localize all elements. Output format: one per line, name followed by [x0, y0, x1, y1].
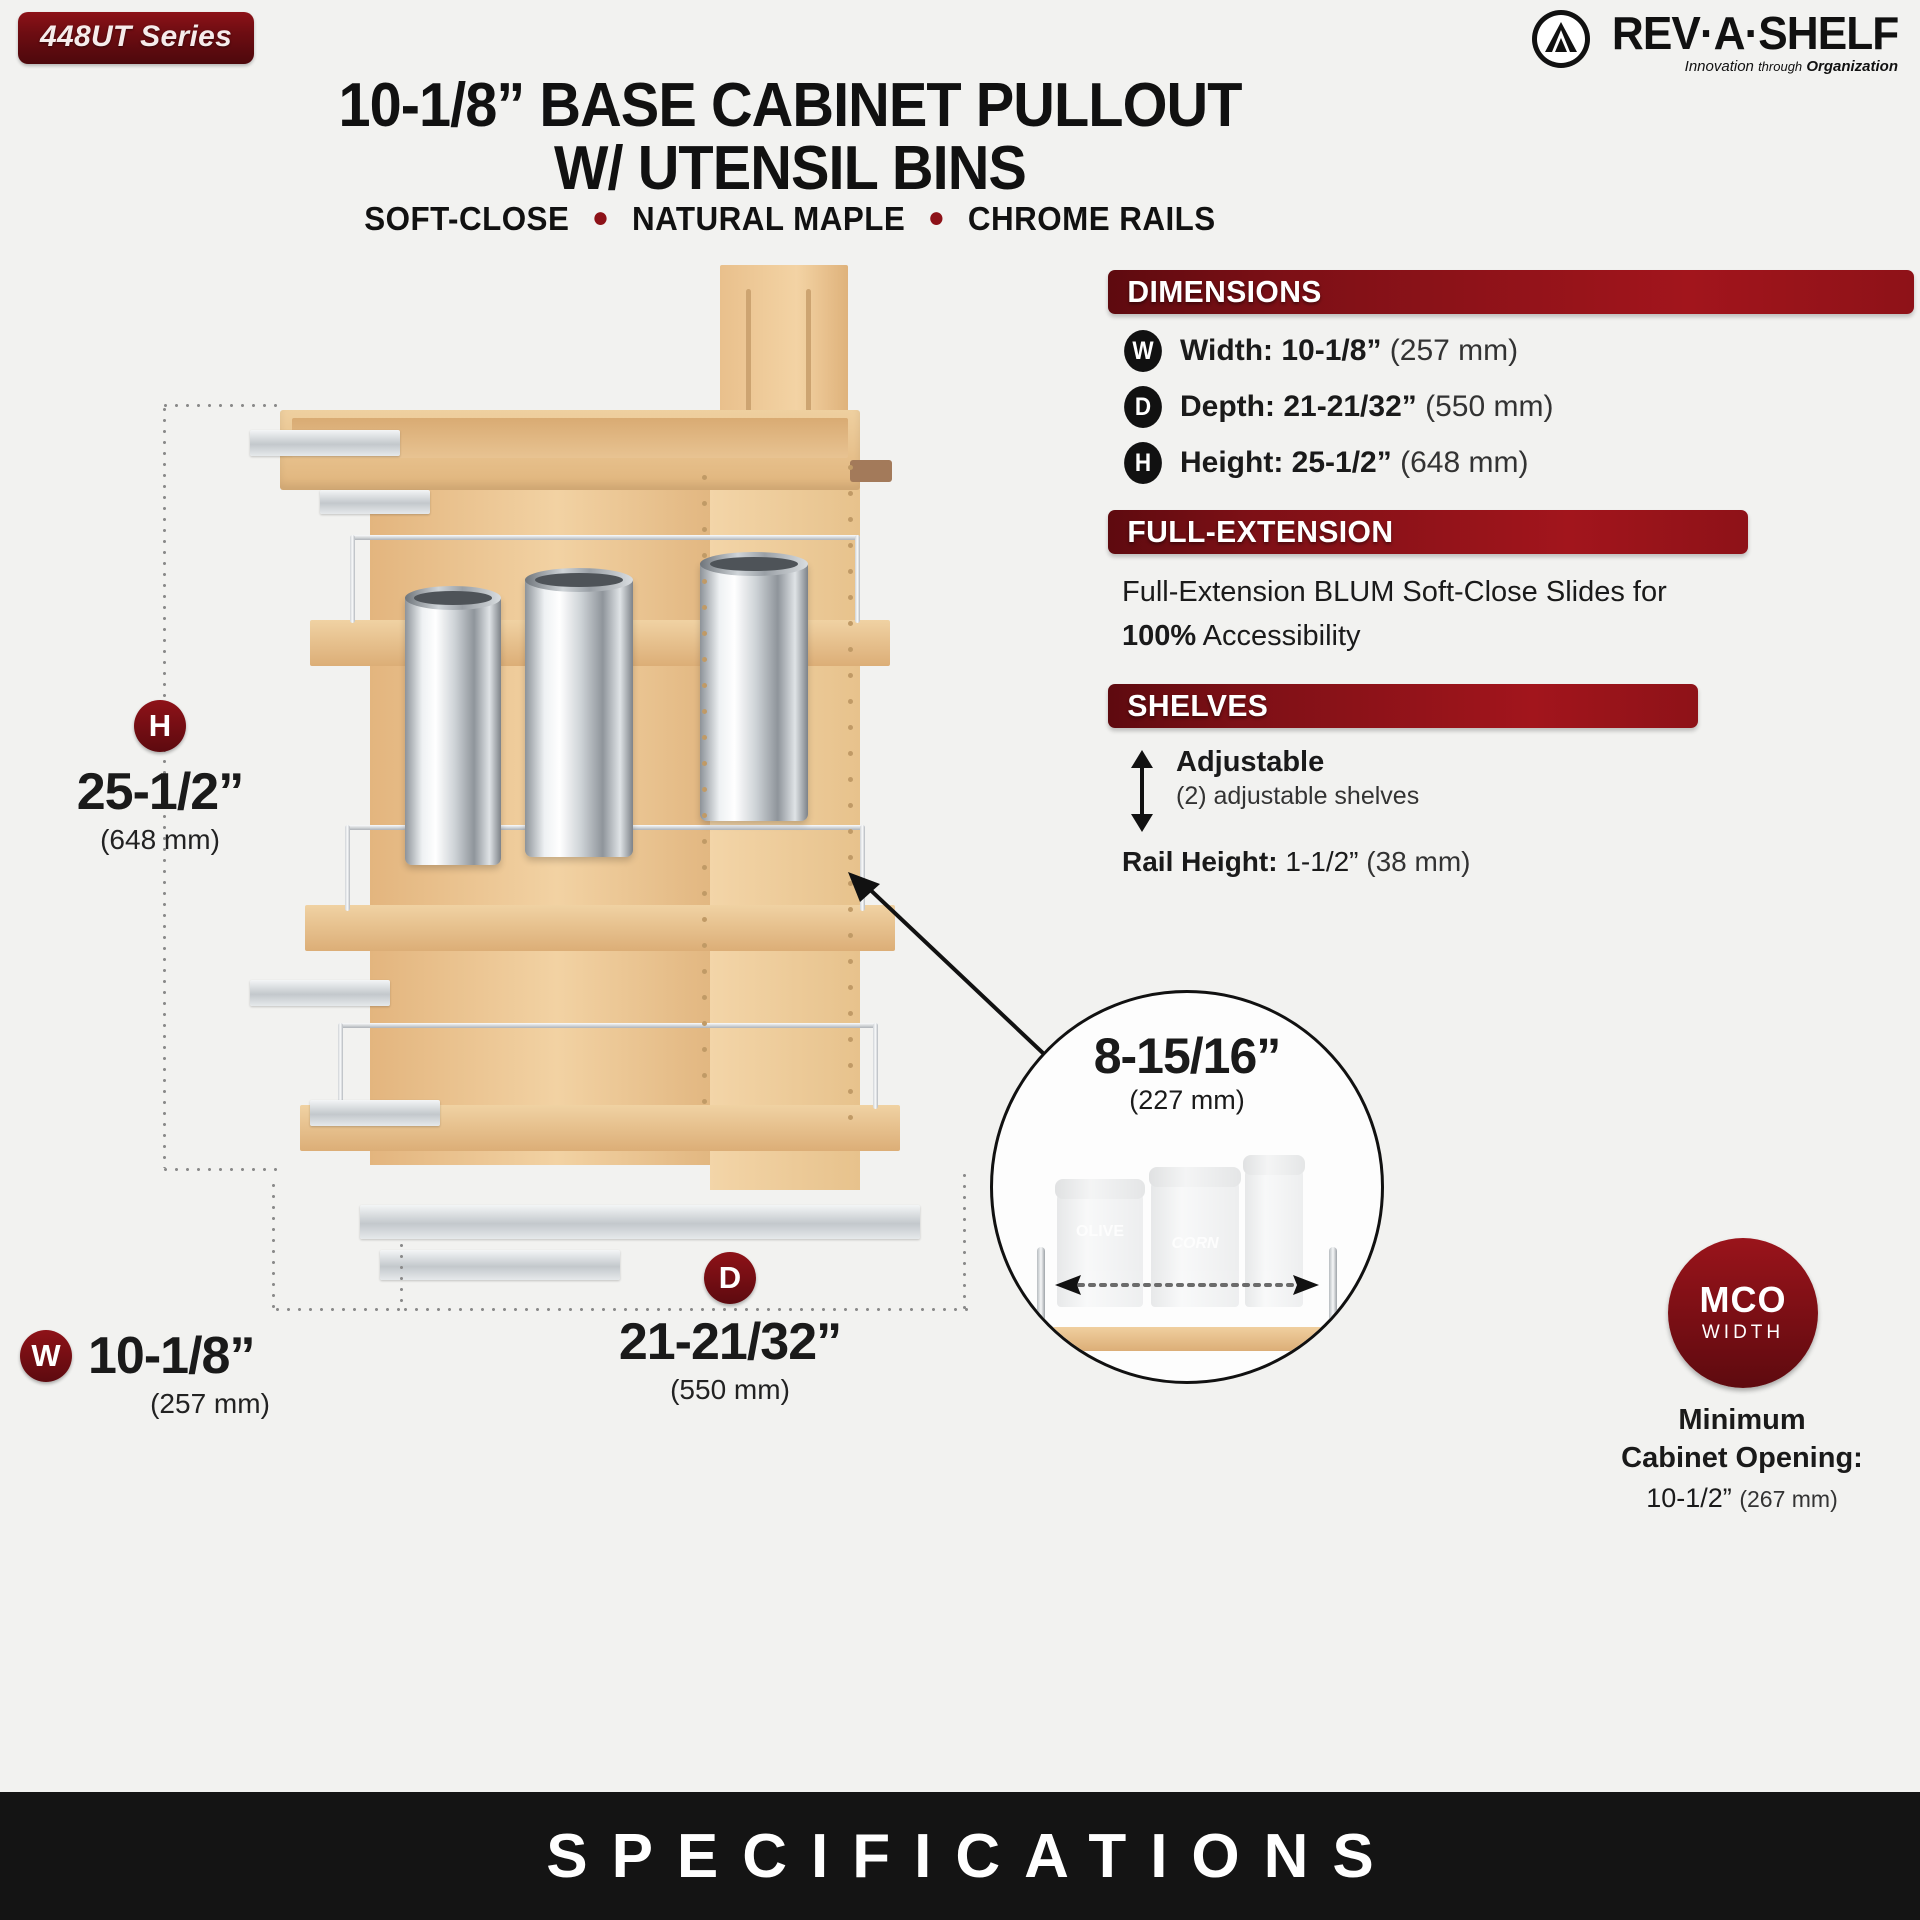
- shelf-peg-hole: [848, 569, 853, 574]
- width-guide-vertical: [400, 1240, 403, 1310]
- series-badge: 448UT Series: [18, 12, 254, 64]
- drawer-slide: [250, 980, 390, 1006]
- mco-caption-line2: Cabinet Opening:: [1540, 1440, 1920, 1478]
- shelf-peg-hole: [848, 465, 853, 470]
- dimension-row-depth: D Depth: 21-21/32” (550 mm): [1122, 386, 1914, 428]
- width-measurement-label: W 10-1/8” (257 mm): [20, 1330, 380, 1420]
- shelf-peg-hole: [848, 491, 853, 496]
- callout-rail-post-right: [1329, 1247, 1337, 1327]
- shelf-peg-hole: [702, 475, 707, 480]
- shelf-peg-hole: [702, 865, 707, 870]
- depth-badge-icon: D: [704, 1252, 756, 1304]
- drawer-slide: [320, 490, 430, 514]
- full-extension-body: Full-Extension BLUM Soft-Close Slides fo…: [1122, 570, 1722, 658]
- shelf-peg-hole: [702, 891, 707, 896]
- dimension-depth-mm: (550 mm): [1425, 390, 1553, 423]
- drawer-slide: [250, 430, 400, 456]
- dimension-width-text: Width: 10-1/8” (257 mm): [1180, 334, 1518, 368]
- height-guide-bottom: [160, 1168, 280, 1171]
- page-title: 10-1/8” BASE CABINET PULLOUT W/ UTENSIL …: [241, 74, 1338, 200]
- jar-lid: [1149, 1167, 1241, 1187]
- rail-height-value: 1-1/2”: [1285, 846, 1358, 877]
- shelf-peg-hole: [848, 751, 853, 756]
- rail-height-mm: (38 mm): [1366, 846, 1470, 877]
- rail-height-label: Rail Height:: [1122, 846, 1278, 877]
- shelf-peg-hole: [848, 777, 853, 782]
- full-extension-text-b: 100%: [1122, 620, 1196, 652]
- shelf-peg-hole: [702, 917, 707, 922]
- shelf-peg-hole: [848, 829, 853, 834]
- chrome-rail-post: [350, 535, 355, 623]
- shelf-peg-hole: [848, 647, 853, 652]
- dimension-width-mm: (257 mm): [1390, 334, 1518, 367]
- height-value-mm: (648 mm): [20, 824, 300, 856]
- dimension-height-value: 25-1/2”: [1292, 446, 1392, 479]
- shelf-peg-hole: [848, 1089, 853, 1094]
- dimension-height-label: Height:: [1180, 446, 1283, 479]
- shelf-peg-hole: [848, 595, 853, 600]
- jar-lid: [1243, 1155, 1305, 1175]
- width-guide-vertical: [272, 1180, 275, 1310]
- depth-value: 21-21/32”: [560, 1316, 900, 1368]
- shelf-peg-hole: [702, 1021, 707, 1026]
- utensil-bin: [525, 577, 633, 857]
- specifications-column: DIMENSIONS W Width: 10-1/8” (257 mm) D D…: [1108, 270, 1914, 878]
- feature-natural-maple: NATURAL MAPLE: [632, 200, 905, 237]
- mco-caption-line1: Minimum: [1540, 1402, 1920, 1440]
- shelf-peg-hole: [848, 543, 853, 548]
- footer-label: SPECIFICATIONS: [522, 1821, 1398, 1892]
- adjustable-shelves-text: Adjustable (2) adjustable shelves: [1176, 744, 1419, 813]
- jar-olive-label: OLIVE: [1057, 1223, 1143, 1241]
- feature-subtitle: SOFT-CLOSE ● NATURAL MAPLE ● CHROME RAIL…: [230, 200, 1351, 238]
- full-extension-header-bar: FULL-EXTENSION: [1108, 510, 1748, 554]
- callout-shelf: [1029, 1327, 1345, 1351]
- bullet-separator-icon: ●: [592, 201, 610, 234]
- dimensions-header-bar: DIMENSIONS: [1108, 270, 1914, 314]
- width-badge-icon: W: [1124, 330, 1162, 372]
- logo-wordmark: REV·A·SHELF: [1612, 12, 1898, 56]
- mco-badge-subtitle: WIDTH: [1702, 1322, 1784, 1344]
- infographic-canvas: 448UT Series REV·A·SHELF Innovation thro…: [0, 0, 1920, 1920]
- shelf-peg-hole: [702, 527, 707, 532]
- shelf-peg-hole: [702, 579, 707, 584]
- shelves-header-bar: SHELVES: [1108, 684, 1698, 728]
- chrome-rail-post: [345, 825, 350, 911]
- width-guide-horizontal: [272, 1308, 402, 1311]
- feature-soft-close: SOFT-CLOSE: [364, 200, 569, 237]
- depth-value-mm: (550 mm): [560, 1374, 900, 1406]
- mco-badge: MCO WIDTH: [1668, 1238, 1818, 1388]
- adjustable-shelves-row: Adjustable (2) adjustable shelves: [1122, 744, 1914, 834]
- bottom-slide-rail: [360, 1205, 920, 1239]
- jar-lid: [1055, 1179, 1145, 1199]
- shelf-peg-hole: [702, 657, 707, 662]
- product-illustration: [250, 265, 1010, 1325]
- shelf-peg-hole: [702, 1099, 707, 1104]
- shelf-peg-hole: [702, 709, 707, 714]
- height-badge-icon: H: [134, 700, 186, 752]
- feature-chrome-rails: CHROME RAILS: [968, 200, 1216, 237]
- shelf-peg-hole: [702, 943, 707, 948]
- full-extension-text-c: Accessibility: [1196, 620, 1360, 652]
- shelf-peg-hole: [702, 839, 707, 844]
- logo-tagline-part3: Organization: [1806, 58, 1898, 75]
- shelf-peg-hole: [702, 787, 707, 792]
- logo-tagline-part1: Innovation: [1685, 58, 1754, 75]
- dimension-height-mm: (648 mm): [1400, 446, 1528, 479]
- dimension-depth-value: 21-21/32”: [1283, 390, 1416, 423]
- utensil-bin: [405, 595, 501, 865]
- adjustable-label: Adjustable: [1176, 744, 1419, 780]
- adjustable-shelf-middle: [305, 905, 895, 951]
- chrome-rail-post: [338, 1023, 343, 1109]
- logo-tagline: Innovation through Organization: [1685, 58, 1898, 75]
- shelves-heading: SHELVES: [1108, 688, 1268, 724]
- shelf-peg-hole: [702, 1073, 707, 1078]
- height-guide-top: [160, 404, 280, 407]
- shelf-peg-hole: [848, 517, 853, 522]
- dimension-depth-text: Depth: 21-21/32” (550 mm): [1180, 390, 1553, 424]
- product-label-tag: [850, 460, 892, 482]
- shelf-peg-hole: [848, 855, 853, 860]
- bullet-separator-icon: ●: [928, 201, 946, 234]
- shelf-peg-hole: [848, 725, 853, 730]
- shelf-peg-hole: [702, 761, 707, 766]
- dimension-height-text: Height: 25-1/2” (648 mm): [1180, 446, 1528, 480]
- mco-caption: Minimum Cabinet Opening: 10-1/2” (267 mm…: [1540, 1402, 1920, 1516]
- title-line-1: 10-1/8” BASE CABINET PULLOUT: [241, 74, 1338, 137]
- rev-a-shelf-mountain-icon: [1530, 8, 1592, 70]
- mco-caption-value-row: 10-1/2” (267 mm): [1540, 1481, 1920, 1516]
- title-line-2: W/ UTENSIL BINS: [241, 137, 1338, 200]
- dimensions-heading: DIMENSIONS: [1108, 274, 1322, 310]
- full-extension-text-a: Full-Extension BLUM Soft-Close Slides fo…: [1122, 576, 1667, 608]
- callout-value: 8-15/16”: [993, 1027, 1381, 1085]
- shelf-peg-hole: [702, 605, 707, 610]
- chrome-rail-post: [855, 535, 860, 623]
- height-value: 25-1/2”: [20, 766, 300, 818]
- shelf-peg-hole: [848, 1115, 853, 1120]
- height-badge-icon: H: [1124, 442, 1162, 484]
- rail-height-row: Rail Height: 1-1/2” (38 mm): [1122, 846, 1914, 878]
- shelf-peg-hole: [702, 631, 707, 636]
- depth-badge-icon: D: [1124, 386, 1162, 428]
- full-extension-heading: FULL-EXTENSION: [1108, 514, 1393, 550]
- shelf-peg-hole: [848, 803, 853, 808]
- jar-corn-label: CORN: [1151, 1235, 1239, 1253]
- width-value: 10-1/8”: [88, 1330, 254, 1382]
- dimension-width-label: Width:: [1180, 334, 1273, 367]
- shelf-peg-hole: [702, 995, 707, 1000]
- mco-caption-value: 10-1/2”: [1646, 1483, 1732, 1513]
- chrome-rail: [350, 535, 860, 540]
- shelf-peg-hole: [848, 699, 853, 704]
- adjustable-note: (2) adjustable shelves: [1176, 780, 1419, 813]
- callout-value-mm: (227 mm): [993, 1085, 1381, 1116]
- shelf-width-callout: 8-15/16” (227 mm) OLIVE CORN: [990, 990, 1384, 1384]
- depth-measurement-label: D 21-21/32” (550 mm): [560, 1252, 900, 1406]
- utensil-bin: [700, 561, 808, 821]
- callout-rail-post-left: [1037, 1247, 1045, 1327]
- dimension-width-value: 10-1/8”: [1281, 334, 1381, 367]
- dimension-row-height: H Height: 25-1/2” (648 mm): [1122, 442, 1914, 484]
- mco-badge-title: MCO: [1700, 1282, 1787, 1318]
- width-value-mm: (257 mm): [60, 1388, 360, 1420]
- shelf-peg-hole: [702, 553, 707, 558]
- brand-logo: REV·A·SHELF Innovation through Organizat…: [1530, 8, 1898, 75]
- logo-tagline-part2: through: [1758, 59, 1802, 74]
- shelf-peg-hole: [702, 813, 707, 818]
- shelf-peg-hole: [848, 621, 853, 626]
- depth-guide-vertical: [963, 1170, 966, 1310]
- shelf-peg-hole: [848, 673, 853, 678]
- shelf-peg-hole: [702, 501, 707, 506]
- height-measurement-label: H 25-1/2” (648 mm): [20, 700, 300, 856]
- dimension-row-width: W Width: 10-1/8” (257 mm): [1122, 330, 1914, 372]
- callout-width-arrow-icon: [1053, 1275, 1321, 1295]
- footer-bar: SPECIFICATIONS: [0, 1792, 1920, 1920]
- shelf-peg-hole: [702, 683, 707, 688]
- dimension-depth-label: Depth:: [1180, 390, 1275, 423]
- drawer-slide: [310, 1100, 440, 1126]
- shelf-peg-hole: [702, 735, 707, 740]
- chrome-rail: [338, 1023, 878, 1028]
- shelf-peg-hole: [702, 969, 707, 974]
- shelf-peg-hole: [702, 1047, 707, 1052]
- width-badge-icon: W: [20, 1330, 72, 1382]
- up-down-arrow-icon: [1122, 744, 1162, 834]
- mco-caption-mm: (267 mm): [1739, 1486, 1837, 1512]
